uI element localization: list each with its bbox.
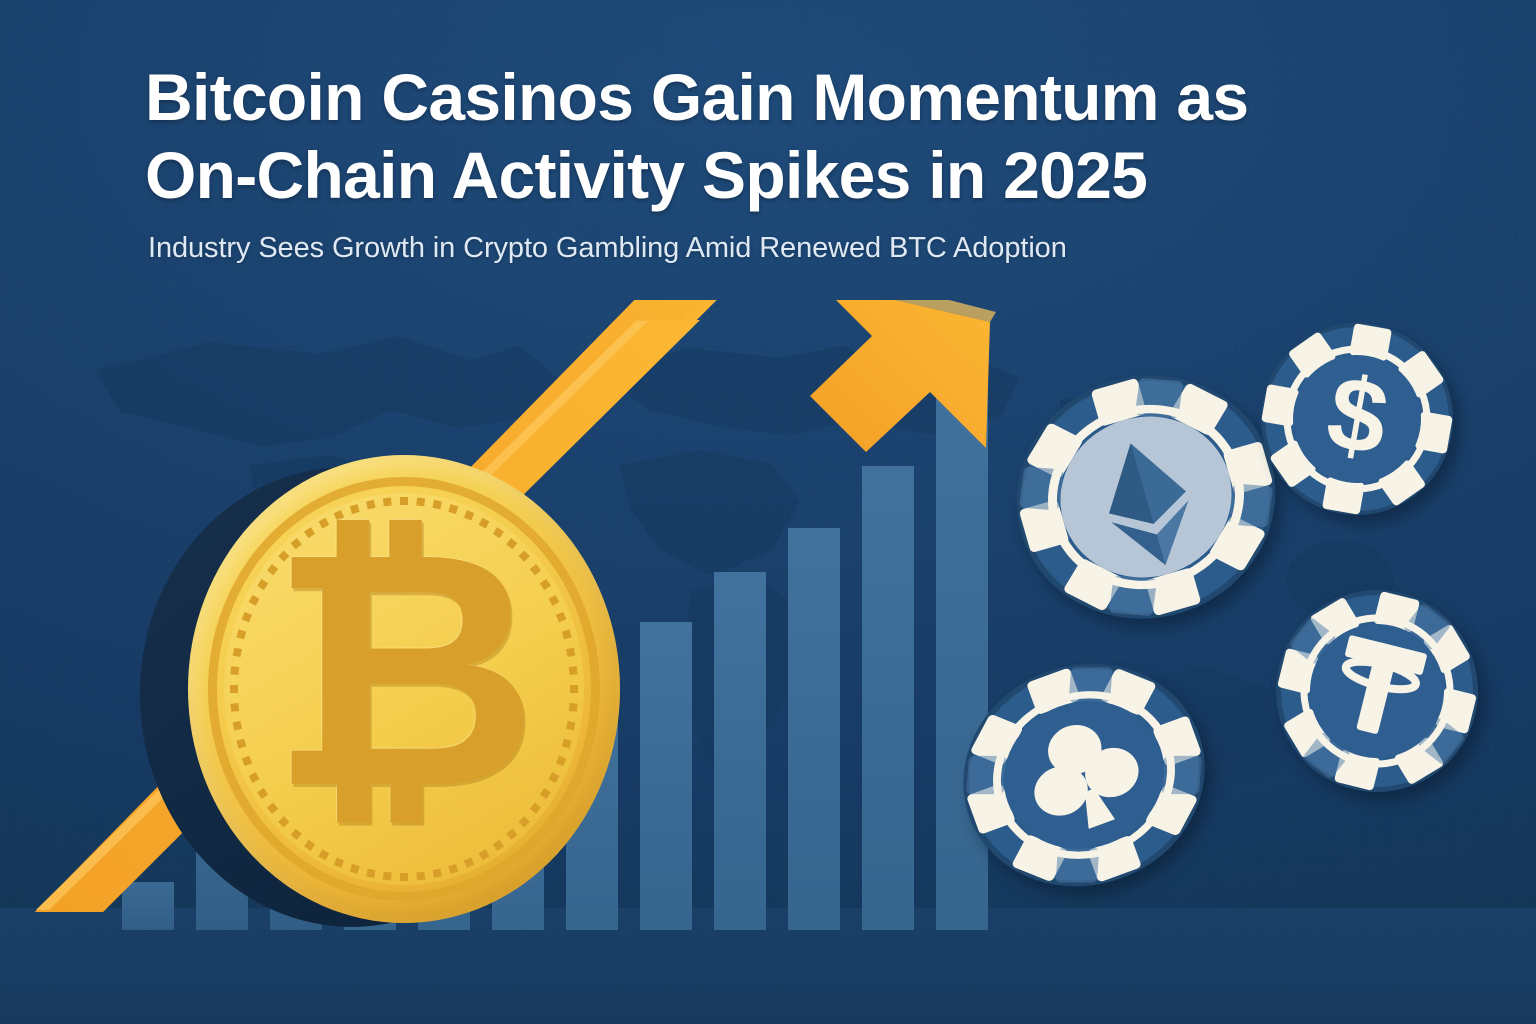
title-line-2: On-Chain Activity Spikes in 2025 xyxy=(145,138,1147,212)
tether-chip xyxy=(1272,584,1484,798)
page-subtitle: Industry Sees Growth in Crypto Gambling … xyxy=(148,230,1455,266)
dollar-chip: $ xyxy=(1258,318,1458,520)
bitcoin-coin-face: ₿ xyxy=(188,455,620,923)
bitcoin-coin-group: ₿ xyxy=(140,455,660,945)
arrow-head xyxy=(810,300,996,452)
club-chip xyxy=(958,648,1210,902)
infographic-banner: Bitcoin Casinos Gain Momentum as On-Chai… xyxy=(0,0,1536,1024)
bitcoin-symbol-icon: ₿ xyxy=(188,505,620,835)
ethereum-chip xyxy=(1010,352,1282,642)
title-line-1: Bitcoin Casinos Gain Momentum as xyxy=(145,60,1248,134)
headline-block: Bitcoin Casinos Gain Momentum as On-Chai… xyxy=(145,58,1455,266)
page-title: Bitcoin Casinos Gain Momentum as On-Chai… xyxy=(145,58,1455,214)
